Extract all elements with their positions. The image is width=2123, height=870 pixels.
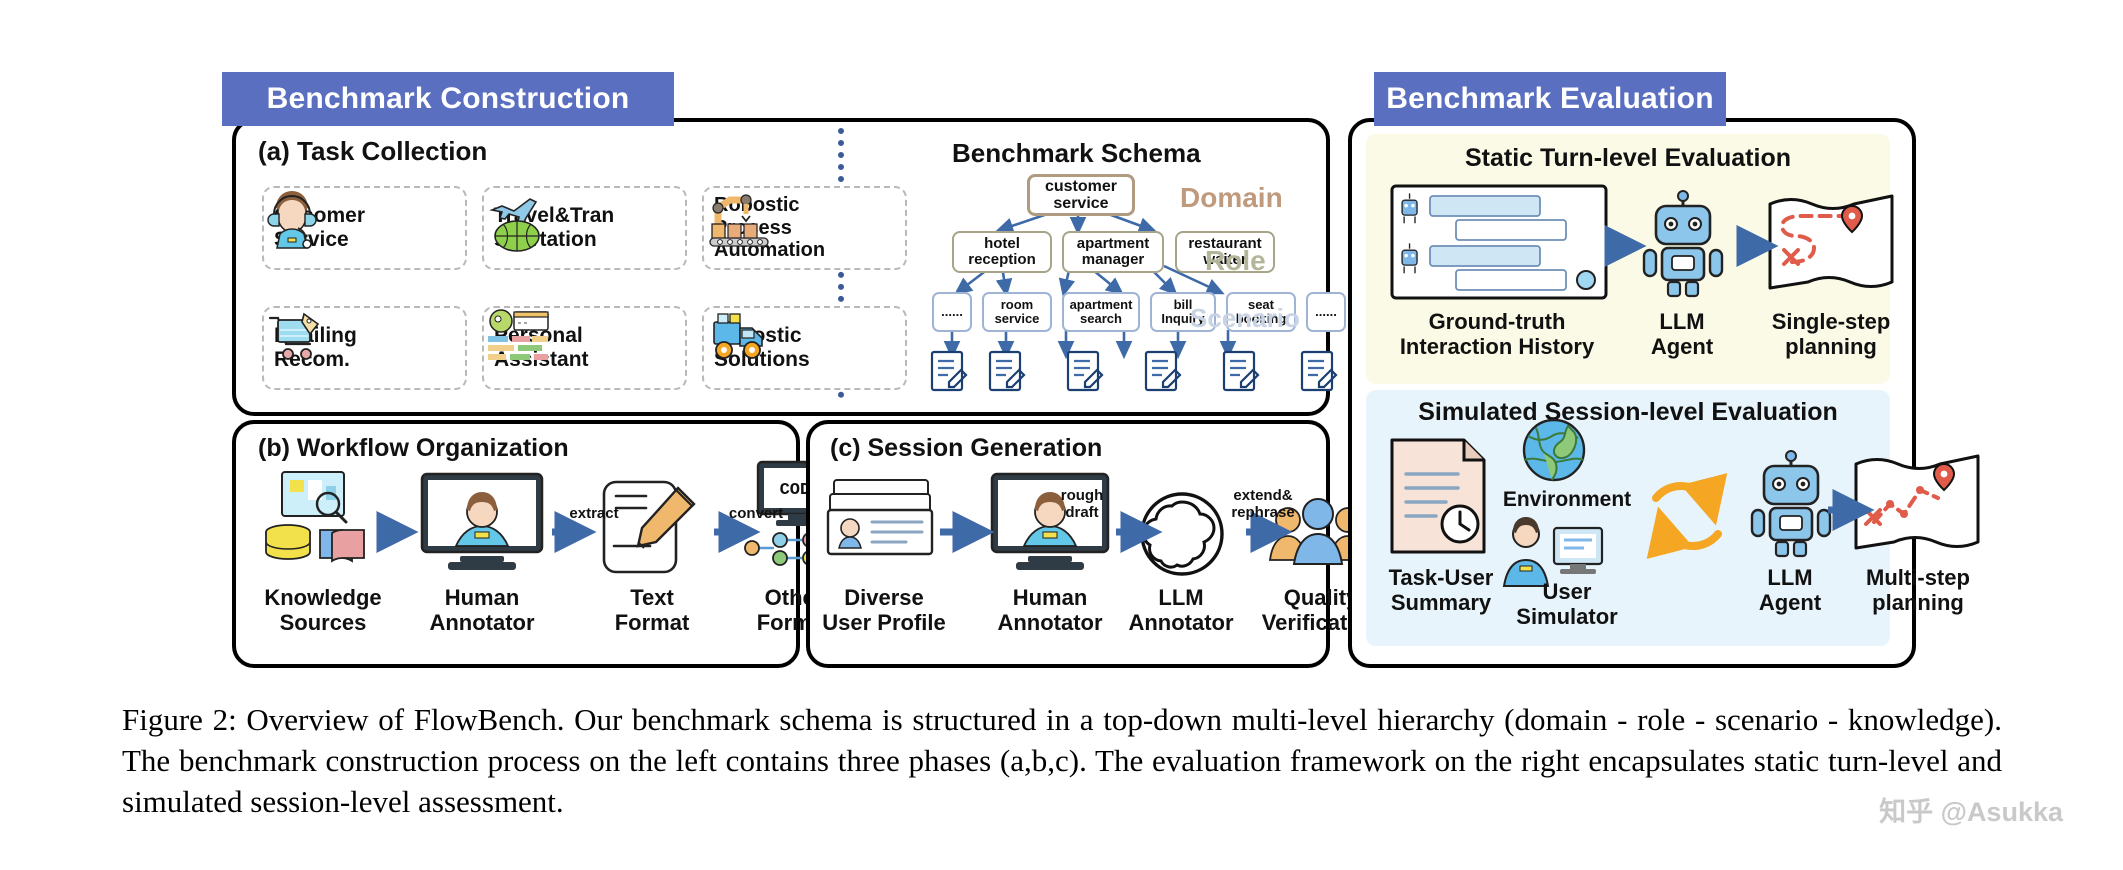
knowledge-base-doc-row [932,352,1362,398]
session-arrows [806,420,1322,660]
benchmark-evaluation-label: Benchmark Evaluation [1386,82,1713,116]
benchmark-construction-label: Benchmark Construction [267,82,630,116]
benchmark-construction-title-bar: Benchmark Construction [222,72,674,126]
task-chip-robotic-process-automation[interactable]: Robostic Process Automation [702,186,907,270]
simulated-arrows [1348,390,1908,646]
task-chip-etailing-recom[interactable]: E-tailing Recom. [262,306,467,390]
schema-node-domain-root[interactable]: customer service [1027,174,1135,216]
schema-level-label-scenario: Scenario [1190,303,1300,334]
task-chip-travel-transportation[interactable]: Travel&Tran sportation [482,186,687,270]
schema-node-scenario-apartment-search[interactable]: apartment search [1062,292,1140,332]
benchmark-schema-heading: Benchmark Schema [952,138,1201,169]
task-chip-customer-service[interactable]: Cusomer Service [262,186,467,270]
schema-node-role-hotel-reception[interactable]: hotel reception [952,231,1052,273]
schema-level-label-domain: Domain [1180,182,1283,214]
task-collection-heading: (a) Task Collection [258,136,487,167]
schema-node-scenario-room-service[interactable]: room service [982,292,1052,332]
benchmark-evaluation-title-bar: Benchmark Evaluation [1374,72,1726,126]
workflow-arrow-label-convert: convert [714,506,798,523]
schema-level-label-role: Role [1205,245,1266,277]
workflow-arrows [232,420,792,660]
figure-caption: Figure 2: Overview of FlowBench. Our ben… [122,700,2002,823]
figure-root: Benchmark Construction (a) Task Collecti… [0,0,2123,870]
watermark: 知乎 @Asukka [1879,790,2063,829]
task-chip-logostic-solutions[interactable]: Logostic Solutions [702,306,907,390]
workflow-arrow-label-extract: extract [556,506,632,523]
session-arrow-label-rough-draft: rough draft [1038,488,1126,521]
static-arrows [1348,118,1908,388]
schema-node-scenario-ellipsis-right[interactable]: ...... [1306,292,1346,332]
session-arrow-label-extend-rephrase: extend& rephrase [1206,488,1320,521]
schema-node-role-apartment-manager[interactable]: apartment manager [1062,231,1164,273]
schema-node-scenario-ellipsis-left[interactable]: ...... [932,292,972,332]
task-chip-personal-assistant[interactable]: Personal Assistant [482,306,687,390]
